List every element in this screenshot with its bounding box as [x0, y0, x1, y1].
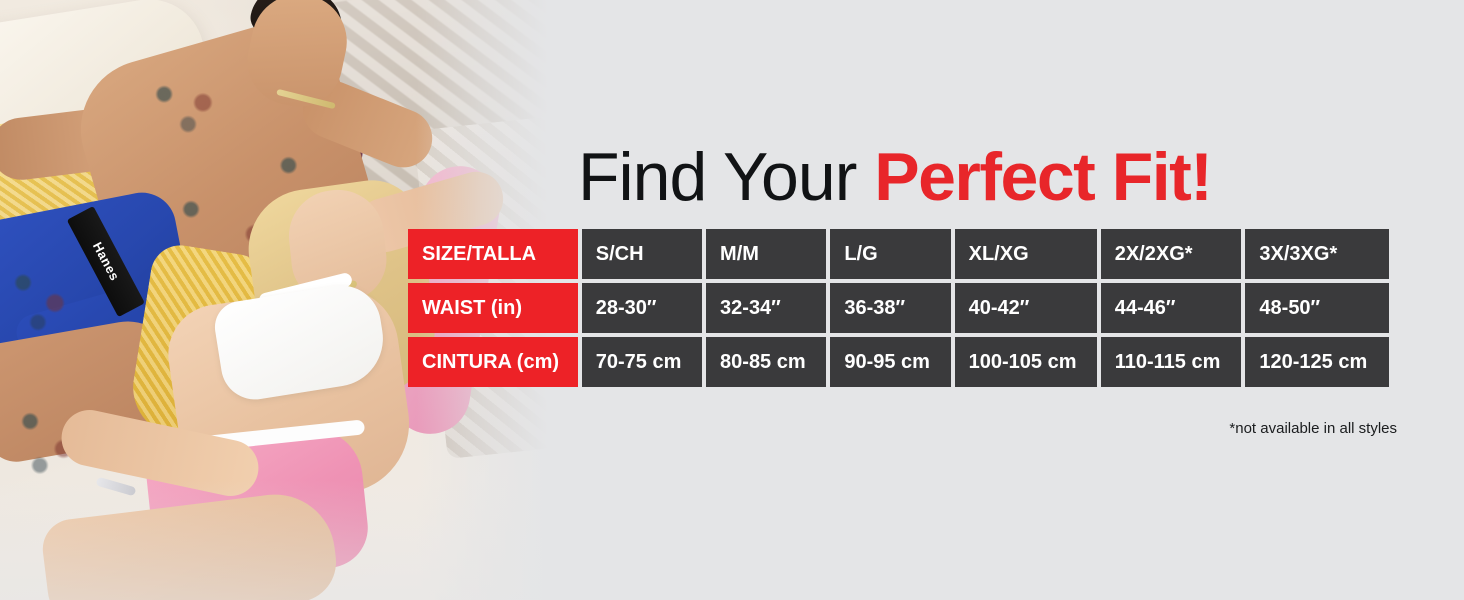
headline-bold-text: Perfect Fit! [874, 139, 1211, 215]
row-header-waist-cm: CINTURA (cm) [408, 337, 578, 387]
cell-size-3x: 3X/3XG* [1245, 229, 1389, 279]
cell-waist-cm-3x: 120-125 cm [1245, 337, 1389, 387]
page-title: Find Your Perfect Fit! [578, 143, 1211, 211]
promo-banner: Hanes Find Your Perfect Fit! SIZE/TALLA … [0, 0, 1464, 600]
cell-waist-in-l: 36-38″ [830, 283, 950, 333]
row-header-size: SIZE/TALLA [408, 229, 578, 279]
cell-waist-cm-l: 90-95 cm [830, 337, 950, 387]
photo-bottom-fade [0, 480, 566, 600]
table-footnote: *not available in all styles [900, 420, 1397, 437]
cell-waist-cm-m: 80-85 cm [706, 337, 826, 387]
cell-size-xl: XL/XG [955, 229, 1097, 279]
cell-size-s: S/CH [582, 229, 702, 279]
cell-waist-in-m: 32-34″ [706, 283, 826, 333]
table-row-size: SIZE/TALLA S/CH M/M L/G XL/XG 2X/2XG* 3X… [408, 229, 1389, 279]
cell-waist-in-xl: 40-42″ [955, 283, 1097, 333]
table-row-waist-cm: CINTURA (cm) 70-75 cm 80-85 cm 90-95 cm … [408, 337, 1389, 387]
cell-waist-in-s: 28-30″ [582, 283, 702, 333]
size-chart-table: SIZE/TALLA S/CH M/M L/G XL/XG 2X/2XG* 3X… [404, 225, 1393, 391]
cell-waist-cm-s: 70-75 cm [582, 337, 702, 387]
cell-waist-in-3x: 48-50″ [1245, 283, 1389, 333]
cell-size-2x: 2X/2XG* [1101, 229, 1242, 279]
row-header-waist-in: WAIST (in) [408, 283, 578, 333]
cell-waist-cm-xl: 100-105 cm [955, 337, 1097, 387]
headline-light-text: Find Your [578, 139, 874, 215]
table-row-waist-in: WAIST (in) 28-30″ 32-34″ 36-38″ 40-42″ 4… [408, 283, 1389, 333]
cell-size-l: L/G [830, 229, 950, 279]
man-tattoo-thigh [0, 247, 83, 342]
cell-waist-in-2x: 44-46″ [1101, 283, 1242, 333]
cell-size-m: M/M [706, 229, 826, 279]
cell-waist-cm-2x: 110-115 cm [1101, 337, 1242, 387]
